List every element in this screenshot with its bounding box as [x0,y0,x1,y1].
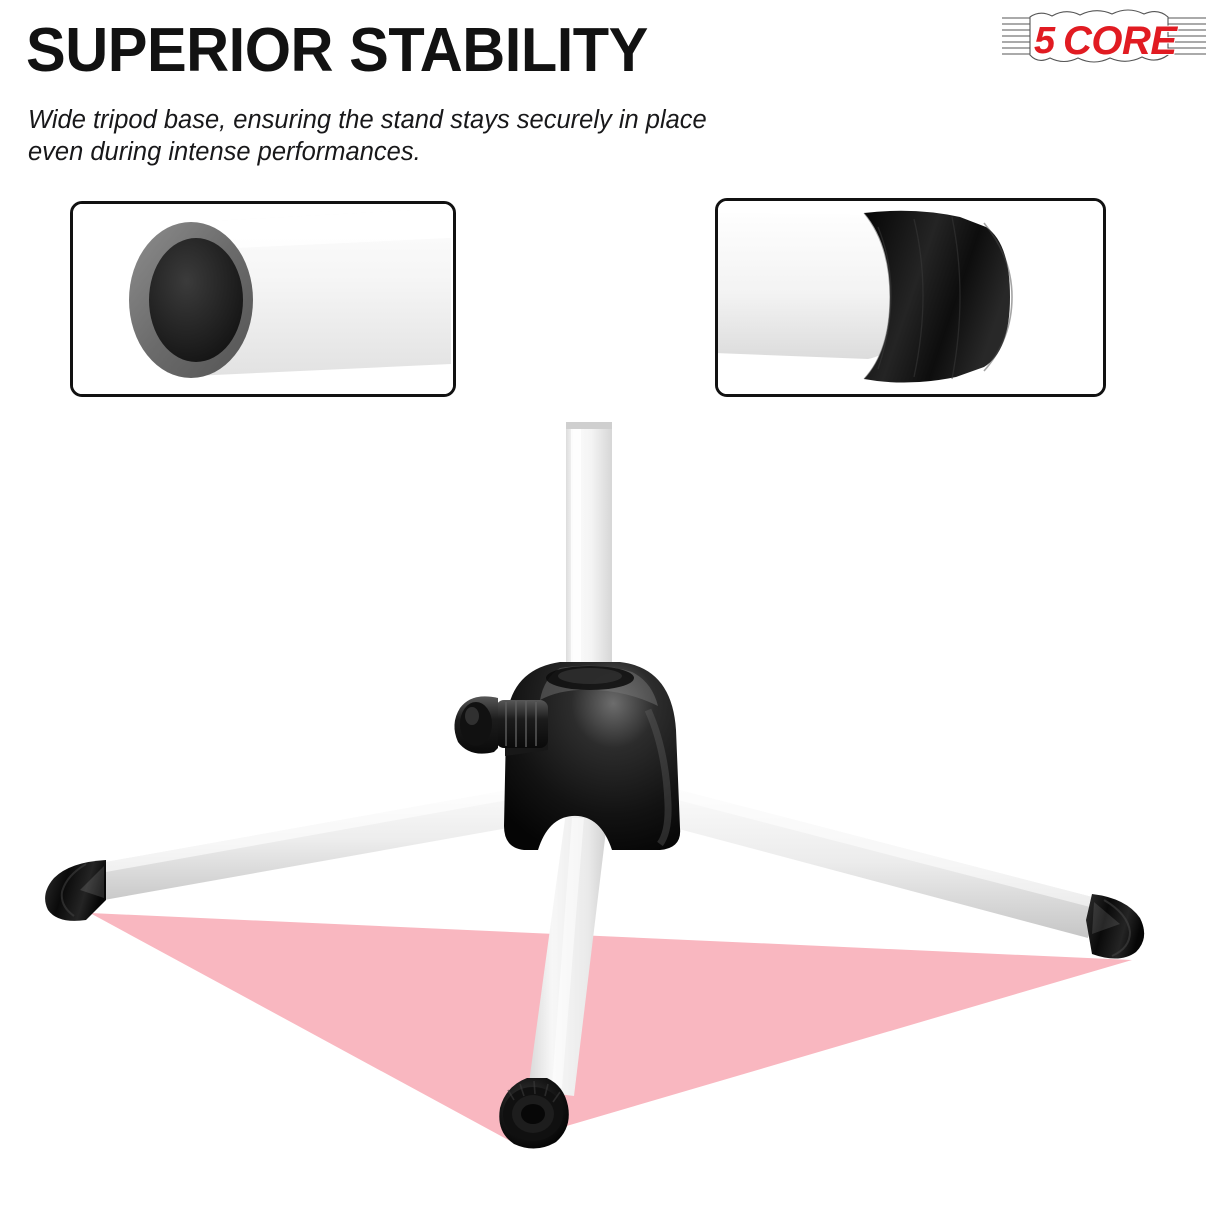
infographic-page: SUPERIOR STABILITY Wide tripod base, ens… [0,0,1214,1214]
svg-text:5: 5 [1034,20,1056,62]
callout-card-sturdy-metal-pipe [70,201,456,397]
tripod-illustration [0,400,1214,1214]
center-pipe [566,422,612,684]
pipe-cross-section-icon [73,204,453,394]
hub-knob [454,696,548,756]
brand-logo: 5 CORE [1000,9,1208,65]
page-title: SUPERIOR STABILITY [26,16,648,86]
svg-text:CORE: CORE [1063,19,1178,63]
subtitle-line-1: Wide tripod base, ensuring the stand sta… [28,106,707,134]
callout-card-anti-slip-legs [715,198,1106,397]
subtitle-line-2: even during intense performances. [28,136,848,168]
page-subtitle: Wide tripod base, ensuring the stand sta… [28,104,848,168]
rubber-capped-leg-end-icon [718,201,1103,394]
